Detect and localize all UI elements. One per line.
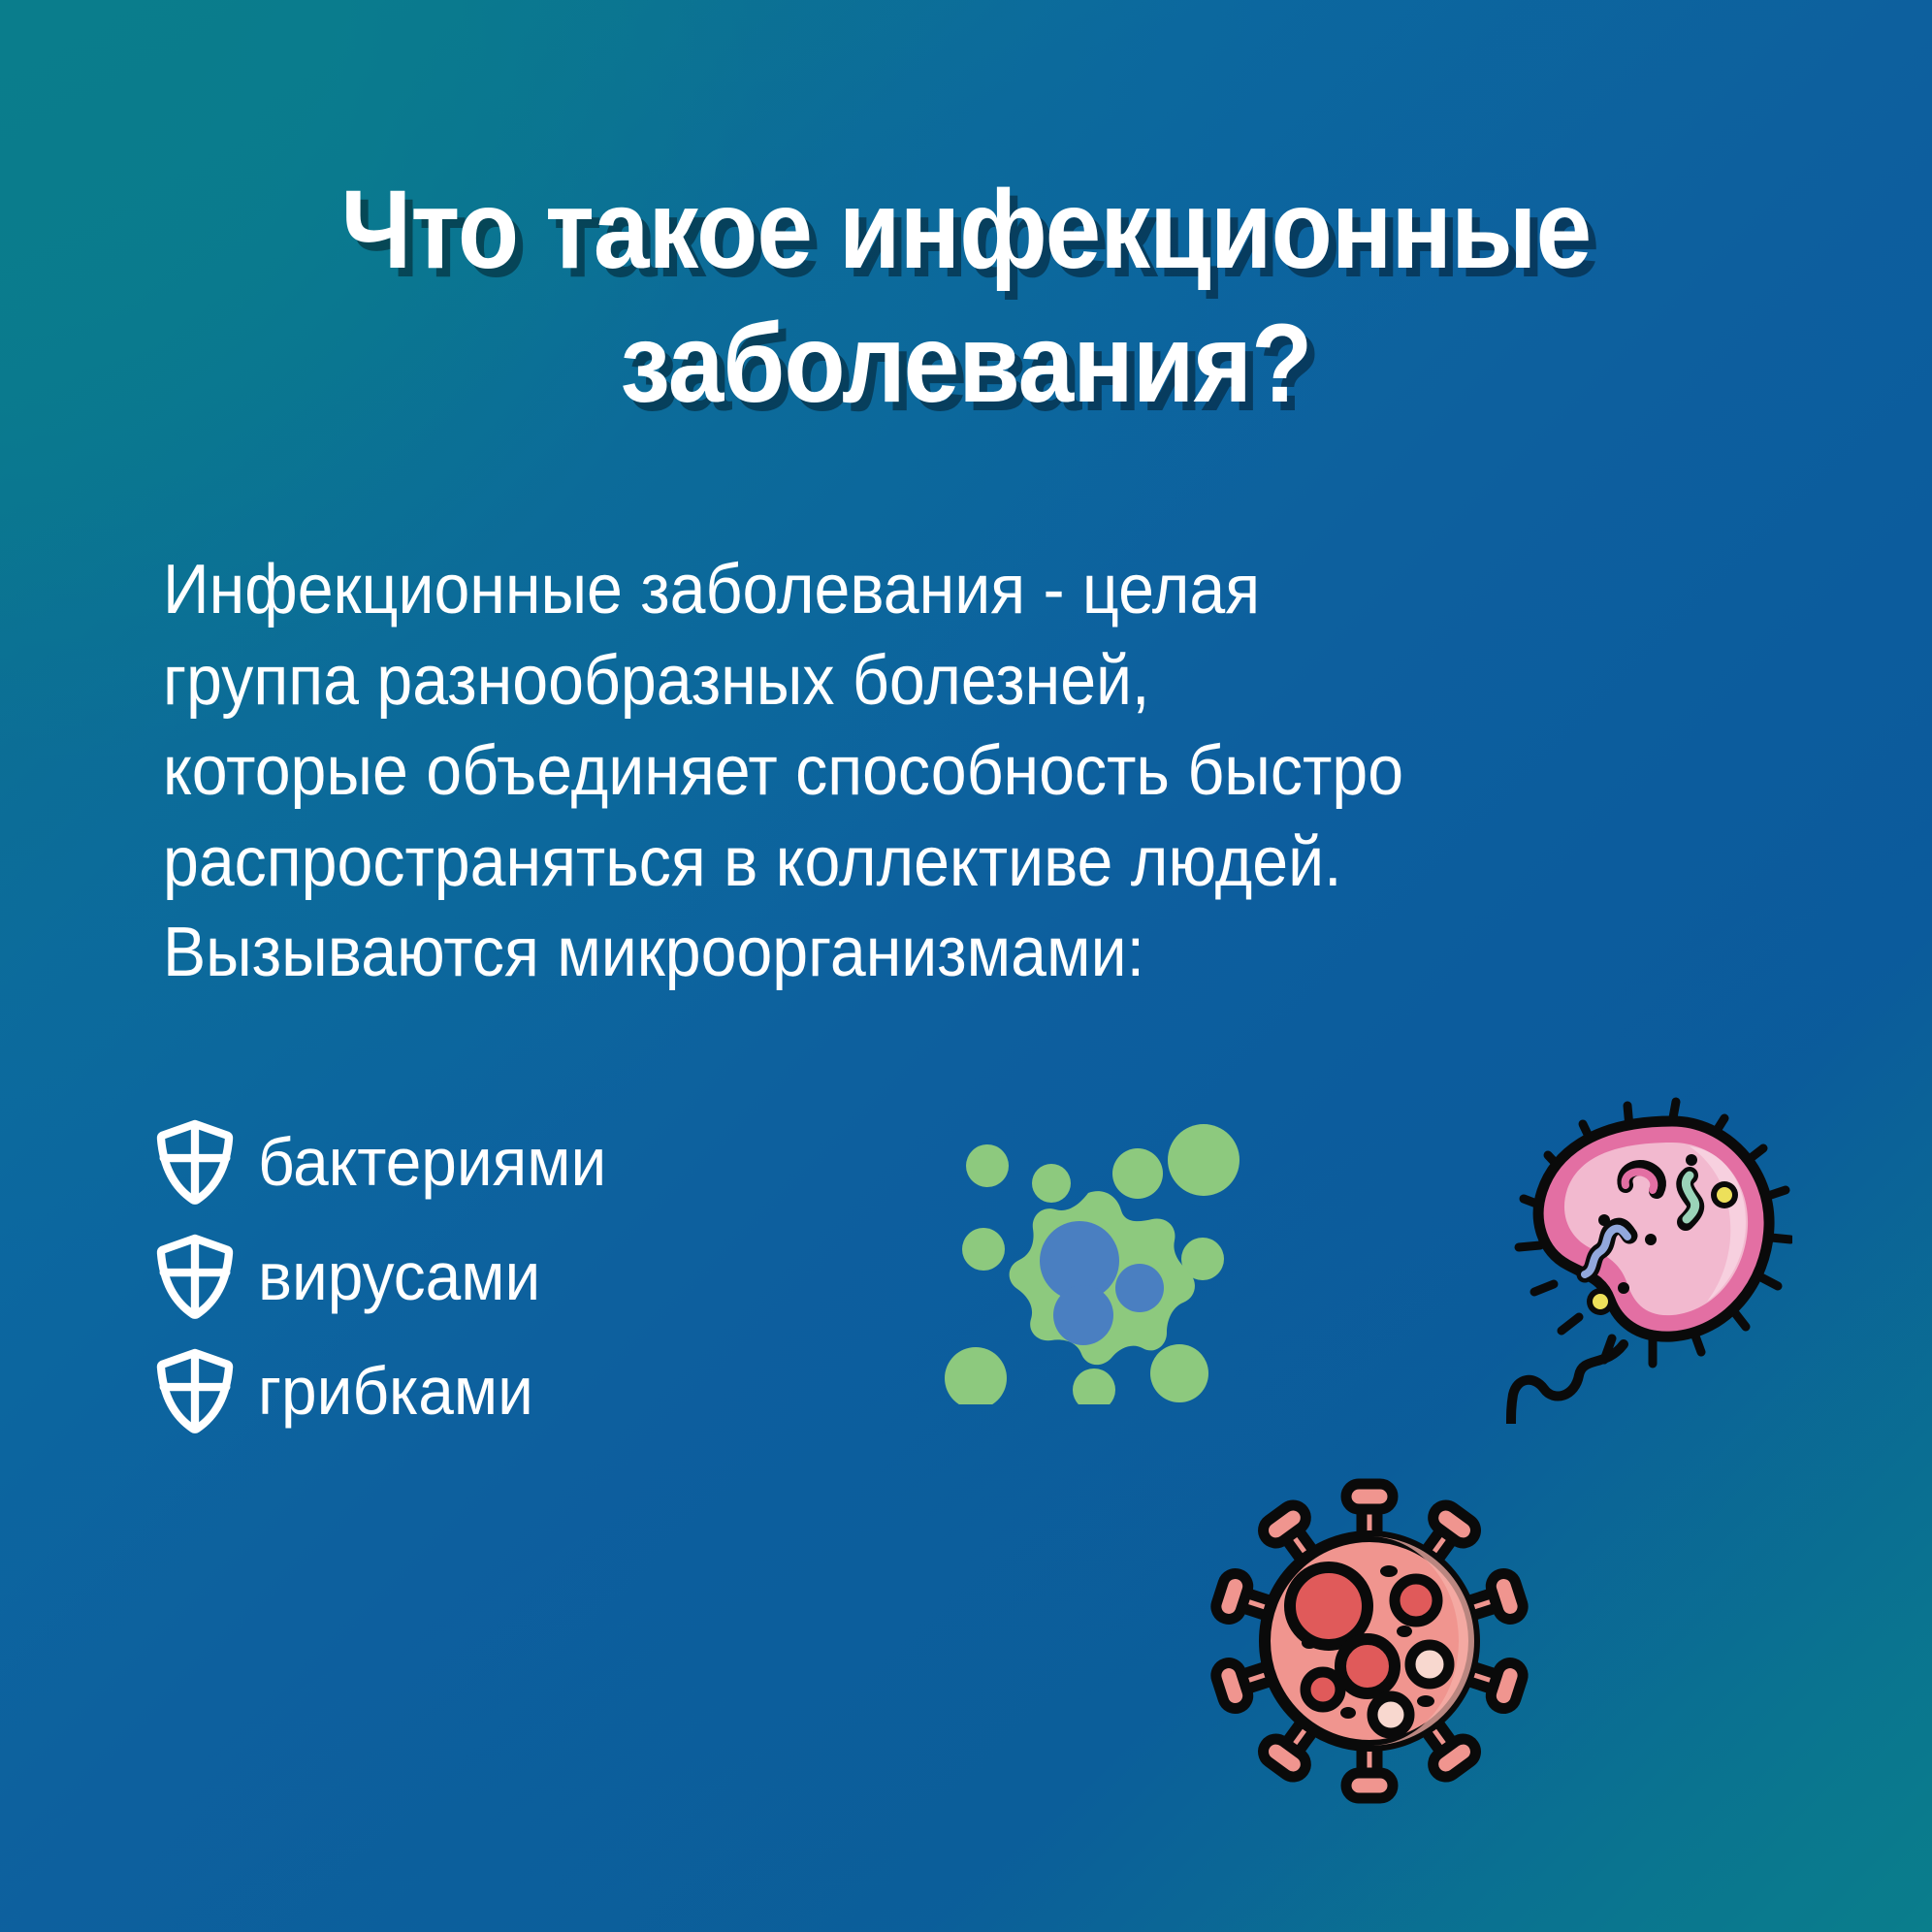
list-item: вирусами	[155, 1230, 628, 1323]
page-title: Что такое инфекционные заболевания?	[97, 163, 1836, 431]
list-item: бактериями	[155, 1115, 628, 1208]
pink-bacterium-illustration	[1482, 1094, 1792, 1424]
list-item-label: вирусами	[258, 1242, 540, 1310]
red-virus-illustration	[1205, 1465, 1534, 1814]
infographic-poster: Что такое инфекционные заболевания? Инфе…	[0, 0, 1932, 1932]
body-paragraph: Инфекционные заболевания - целая группа …	[163, 545, 1555, 999]
shield-cross-icon	[155, 1347, 235, 1434]
list-item: грибками	[155, 1344, 628, 1437]
green-amoeba-illustration	[941, 1094, 1251, 1404]
shield-cross-icon	[155, 1233, 235, 1320]
list-item-label: бактериями	[258, 1128, 606, 1196]
shield-cross-icon	[155, 1118, 235, 1206]
list-item-label: грибками	[258, 1357, 533, 1425]
microorganism-list: бактериями вирусами грибками	[155, 1115, 628, 1437]
